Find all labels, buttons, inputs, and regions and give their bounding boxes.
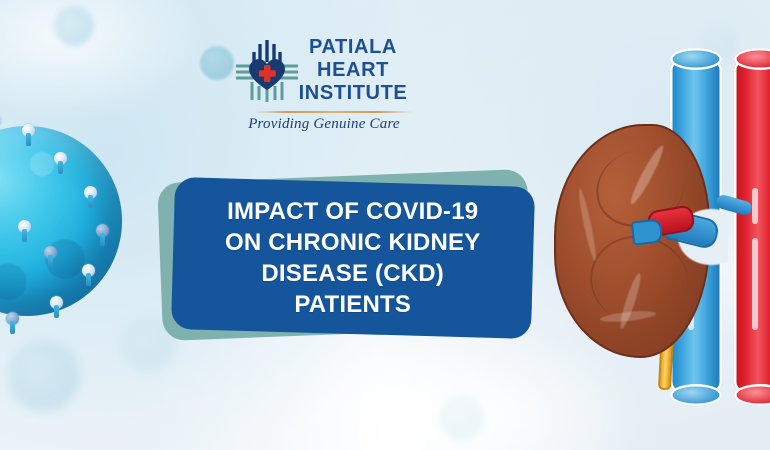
- virus-spike-icon: [96, 224, 109, 237]
- kidney-highlight: [576, 188, 598, 262]
- virus-spike-icon: [22, 124, 35, 137]
- virus-spike-icon: [6, 312, 19, 325]
- headline-line-3: DISEASE (CKD): [225, 258, 480, 289]
- logo-name-line-2: HEART: [294, 59, 412, 82]
- vein-opening-top: [670, 48, 722, 70]
- headline-card: IMPACT OF COVID-19 ON CHRONIC KIDNEY DIS…: [171, 177, 535, 339]
- virus-spike-icon: [82, 264, 95, 277]
- background-virus-blob-icon: [8, 340, 80, 412]
- kidney-anatomy-illustration: [548, 38, 770, 418]
- artery-highlight: [752, 238, 758, 330]
- coronavirus-illustration: [0, 108, 144, 338]
- logo-name-line-1: PATIALA: [294, 36, 412, 59]
- logo-name-line-3: INSTITUTE: [294, 82, 412, 105]
- background-virus-blob-icon: [200, 46, 234, 80]
- background-virus-blob-icon: [440, 396, 484, 440]
- covid-ckd-banner: IMPACT OF COVID-19 ON CHRONIC KIDNEY DIS…: [0, 0, 770, 450]
- headline-line-2: ON CHRONIC KIDNEY: [225, 227, 480, 258]
- vein-opening-bottom: [670, 384, 722, 406]
- page-title: IMPACT OF COVID-19 ON CHRONIC KIDNEY DIS…: [225, 196, 480, 320]
- virus-spike-icon: [50, 296, 63, 309]
- virus-spike-icon: [54, 152, 67, 165]
- logo-wordmark: PATIALA HEART INSTITUTE: [294, 36, 412, 105]
- logo-tagline: Providing Genuine Care: [236, 116, 412, 133]
- virus-spike-icon: [0, 114, 1, 127]
- renal-pelvis: [631, 218, 663, 245]
- virus-spike-icon: [84, 186, 97, 199]
- logo-divider: [254, 111, 412, 113]
- patiala-heart-institute-logo[interactable]: PATIALA HEART INSTITUTE Providing Genuin…: [236, 36, 412, 140]
- artery-opening-bottom: [734, 384, 770, 406]
- renal-artery-vessel: [734, 54, 770, 398]
- headline-line-4: PATIENTS: [225, 289, 480, 320]
- virus-spike-icon: [44, 246, 57, 259]
- artery-highlight: [752, 188, 758, 224]
- headline-line-1: IMPACT OF COVID-19: [225, 196, 480, 227]
- virus-spike-icon: [18, 220, 31, 233]
- heart-with-cross-logo-icon: [236, 38, 298, 104]
- background-virus-blob-icon: [54, 6, 94, 46]
